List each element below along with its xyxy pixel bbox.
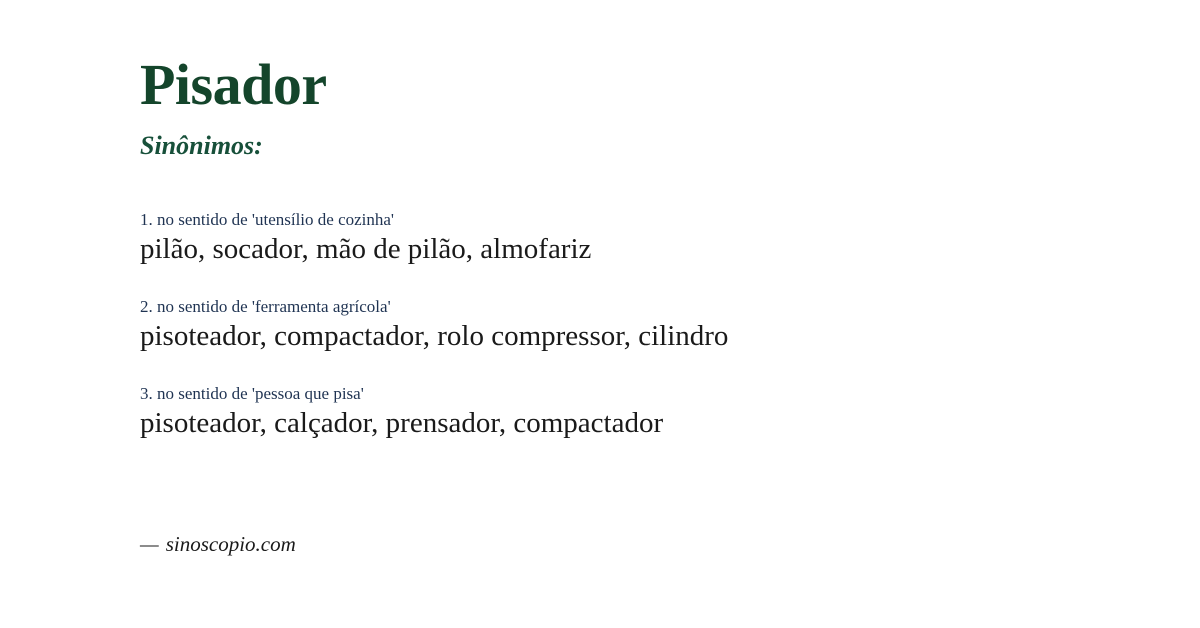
em-dash: —	[140, 532, 159, 556]
sense-list: 1. no sentido de 'utensílio de cozinha' …	[140, 209, 1160, 443]
synonym-card: Pisador Sinônimos: 1. no sentido de 'ute…	[0, 0, 1200, 628]
list-item: 2. no sentido de 'ferramenta agrícola' p…	[140, 296, 1160, 356]
sense-synonyms: pisoteador, compactador, rolo compressor…	[140, 317, 1160, 356]
sense-label: 2. no sentido de 'ferramenta agrícola'	[140, 296, 1160, 317]
sense-synonyms: pisoteador, calçador, prensador, compact…	[140, 404, 1160, 443]
sense-synonyms: pilão, socador, mão de pilão, almofariz	[140, 230, 1160, 269]
sense-label: 1. no sentido de 'utensílio de cozinha'	[140, 209, 1160, 230]
source-name: sinoscopio.com	[166, 532, 296, 556]
attribution: —sinoscopio.com	[140, 534, 296, 555]
sense-label: 3. no sentido de 'pessoa que pisa'	[140, 383, 1160, 404]
subtitle-synonyms-label: Sinônimos:	[140, 133, 263, 159]
list-item: 3. no sentido de 'pessoa que pisa' pisot…	[140, 383, 1160, 443]
list-item: 1. no sentido de 'utensílio de cozinha' …	[140, 209, 1160, 269]
page-title: Pisador	[140, 56, 327, 114]
